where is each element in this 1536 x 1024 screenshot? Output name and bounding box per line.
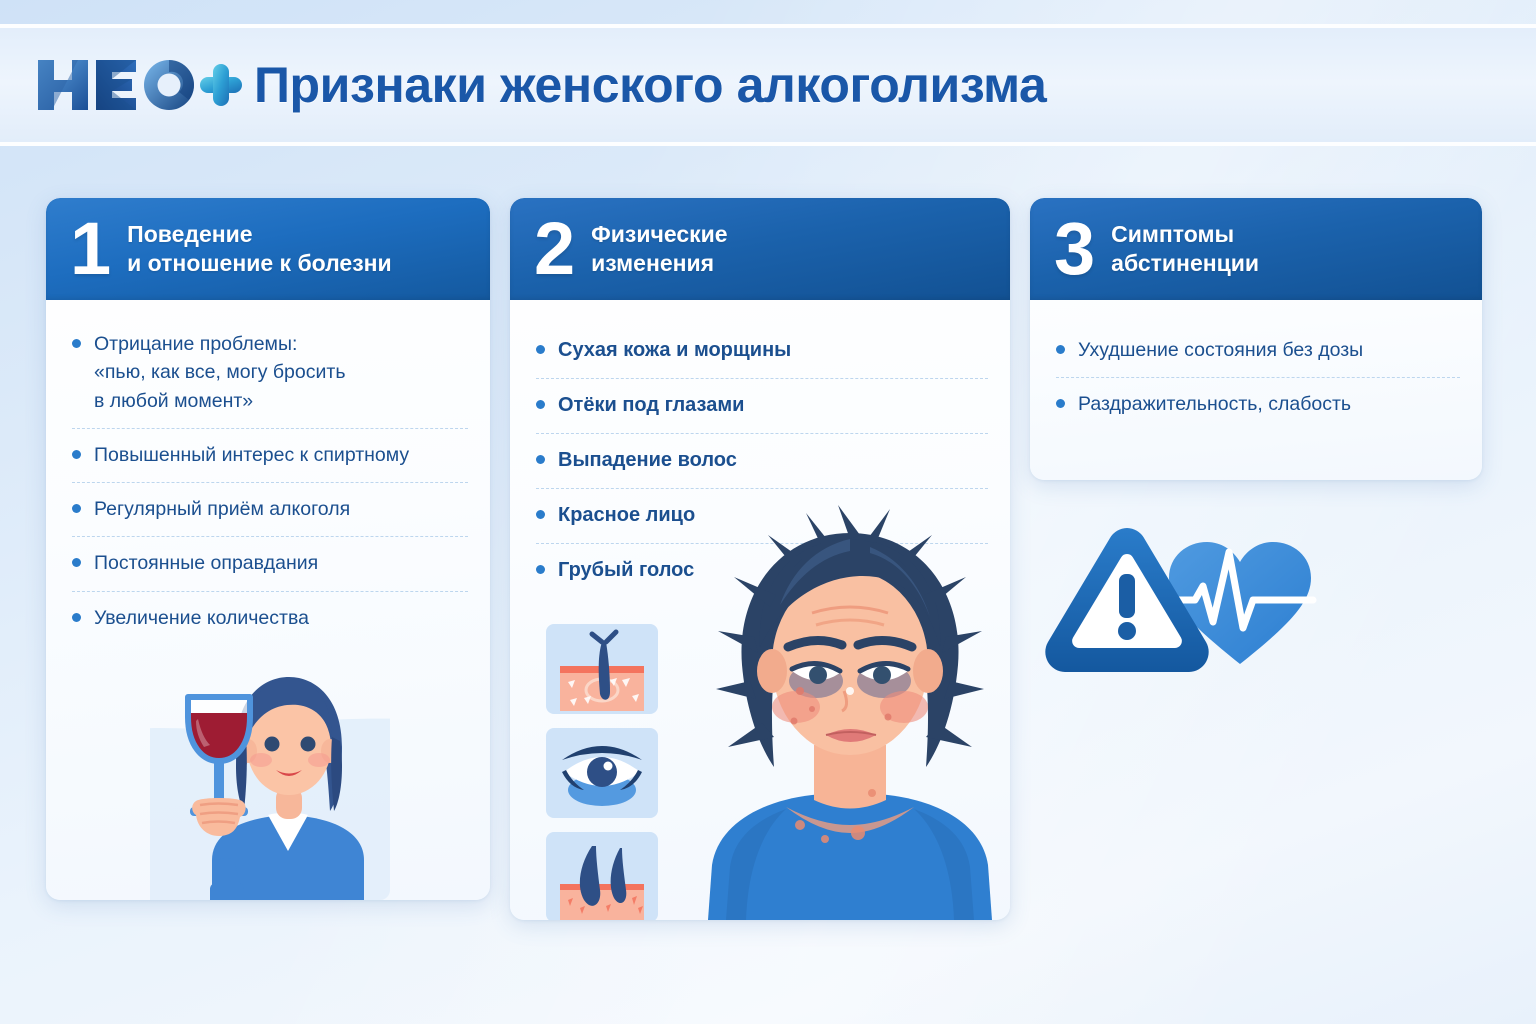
- behavior-bullet-list: Отрицание проблемы: «пью, как все, могу …: [46, 300, 490, 645]
- list-item-text: Отрицание проблемы: «пью, как все, могу …: [94, 330, 345, 415]
- list-item: Отёки под глазами: [536, 379, 988, 434]
- list-item-line: «пью, как все, могу бросить: [94, 358, 345, 386]
- list-item: Увеличение количества: [72, 592, 468, 645]
- card-behavior-header: 1 Поведение и отношение к болезни: [46, 198, 490, 300]
- bullet-dot-icon: [72, 558, 81, 567]
- list-item: Повышенный интерес к спиртному: [72, 429, 468, 483]
- list-item-text: Постоянные оправдания: [94, 549, 318, 577]
- bullet-dot-icon: [1056, 399, 1065, 408]
- bullet-dot-icon: [72, 339, 81, 348]
- step-number-2: 2: [534, 220, 573, 278]
- step-number-3: 3: [1054, 220, 1093, 278]
- card-physical-title-line1: Физические: [591, 220, 727, 249]
- list-item: Выпадение волос: [536, 434, 988, 489]
- list-item: Сухая кожа и морщины: [536, 324, 988, 379]
- list-item: Отрицание проблемы: «пью, как все, могу …: [72, 324, 468, 429]
- card-physical-header: 2 Физические изменения: [510, 198, 1010, 300]
- list-item-text: Повышенный интерес к спиртному: [94, 441, 409, 469]
- bullet-dot-icon: [72, 504, 81, 513]
- card-behavior: 1 Поведение и отношение к болезни Отрица…: [46, 198, 490, 900]
- list-item-text: Отёки под глазами: [558, 391, 744, 420]
- list-item: Грубый голос: [536, 544, 988, 598]
- card-physical-title: Физические изменения: [591, 220, 727, 278]
- bullet-dot-icon: [536, 345, 545, 354]
- list-item-text: Сухая кожа и морщины: [558, 336, 791, 365]
- list-item: Раздражительность, слабость: [1056, 378, 1460, 431]
- list-item-text: Регулярный приём алкоголя: [94, 495, 350, 523]
- card-withdrawal-title-line2: абстиненции: [1111, 249, 1259, 278]
- card-behavior-title-line2: и отношение к болезни: [127, 249, 392, 278]
- card-behavior-title-line1: Поведение: [127, 220, 392, 249]
- card-withdrawal-title-line1: Симптомы: [1111, 220, 1259, 249]
- list-item: Ухудшение состояния без дозы: [1056, 324, 1460, 378]
- step-number-1: 1: [70, 220, 109, 278]
- bullet-dot-icon: [1056, 345, 1065, 354]
- list-item: Постоянные оправдания: [72, 537, 468, 591]
- list-item-text: Грубый голос: [558, 556, 694, 585]
- page-title: Признаки женского алкоголизма: [254, 56, 1046, 114]
- physical-bullet-list: Сухая кожа и морщины Отёки под глазами В…: [510, 300, 1010, 598]
- list-item-text: Раздражительность, слабость: [1078, 390, 1351, 418]
- page-header: Признаки женского алкоголизма: [0, 24, 1536, 146]
- list-item-text: Красное лицо: [558, 501, 695, 530]
- list-item-text: Ухудшение состояния без дозы: [1078, 336, 1363, 364]
- warning-and-heartbeat-illustration: [1045, 512, 1335, 692]
- card-physical: 2 Физические изменения Сухая кожа и морщ…: [510, 198, 1010, 920]
- withdrawal-bullet-list: Ухудшение состояния без дозы Раздражител…: [1030, 300, 1482, 432]
- bullet-dot-icon: [72, 450, 81, 459]
- card-withdrawal-title: Симптомы абстиненции: [1111, 220, 1259, 278]
- bullet-dot-icon: [536, 565, 545, 574]
- neo-plus-logo: [32, 52, 244, 118]
- list-item-line: в любой момент»: [94, 387, 345, 415]
- list-item-text: Выпадение волос: [558, 446, 737, 475]
- list-item-text: Увеличение количества: [94, 604, 309, 632]
- bullet-dot-icon: [72, 613, 81, 622]
- card-withdrawal: 3 Симптомы абстиненции Ухудшение состоян…: [1030, 198, 1482, 480]
- bullet-dot-icon: [536, 510, 545, 519]
- card-physical-title-line2: изменения: [591, 249, 727, 278]
- bullet-dot-icon: [536, 455, 545, 464]
- bullet-dot-icon: [536, 400, 545, 409]
- infographic-canvas: Признаки женского алкоголизма 1 Поведени…: [0, 0, 1536, 1024]
- list-item: Регулярный приём алкоголя: [72, 483, 468, 537]
- heartbeat-icon: [1169, 542, 1313, 664]
- card-behavior-title: Поведение и отношение к болезни: [127, 220, 392, 278]
- card-withdrawal-header: 3 Симптомы абстиненции: [1030, 198, 1482, 300]
- list-item: Красное лицо: [536, 489, 988, 544]
- list-item-line: Отрицание проблемы:: [94, 330, 345, 358]
- warning-triangle-icon: [1045, 528, 1208, 672]
